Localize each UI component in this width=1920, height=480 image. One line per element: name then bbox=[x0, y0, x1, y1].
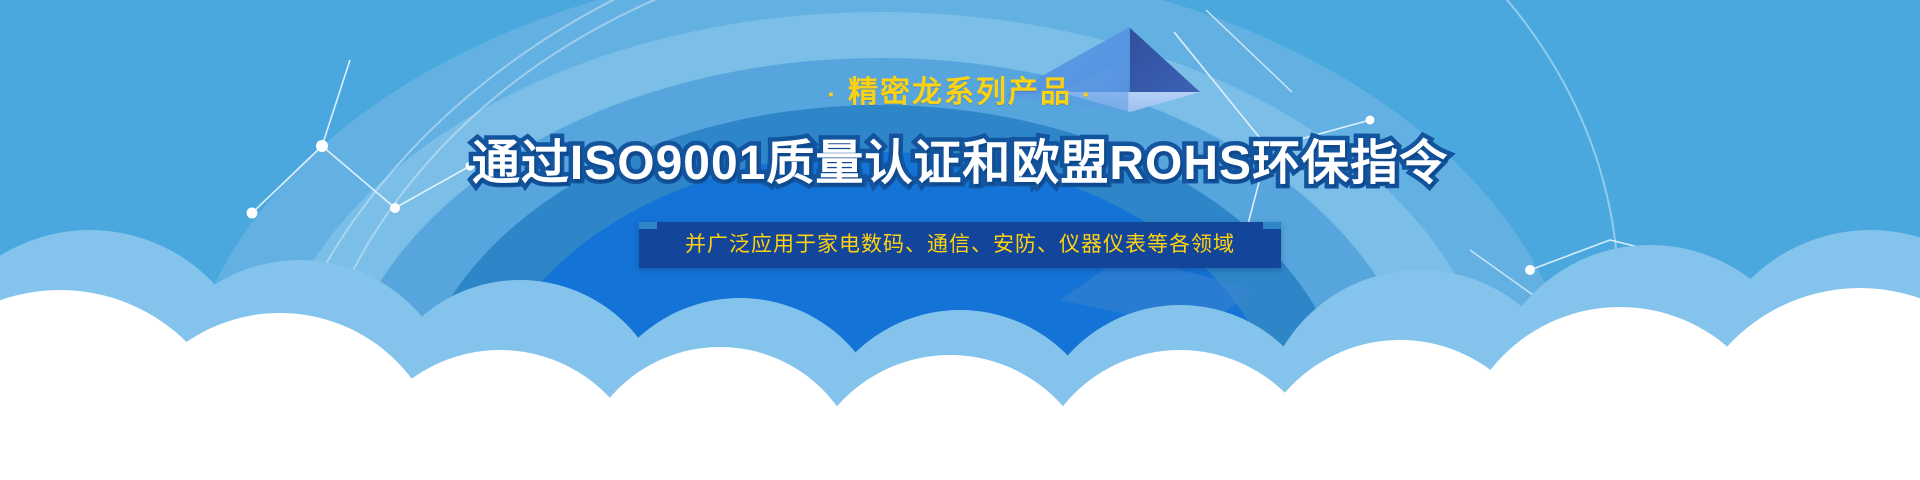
eyebrow-text: 精密龙系列产品 bbox=[848, 76, 1072, 109]
banner-subtitle-bar: 并广泛应用于家电数码、通信、安防、仪器仪表等各领域 bbox=[639, 222, 1281, 268]
eyebrow-right-dot: · bbox=[1072, 79, 1103, 109]
banner-subtitle-text: 并广泛应用于家电数码、通信、安防、仪器仪表等各领域 bbox=[685, 234, 1235, 255]
banner-content: ·精密龙系列产品· 通过ISO9001质量认证和欧盟ROHS环保指令 并广泛应用… bbox=[0, 0, 1920, 480]
banner-eyebrow: ·精密龙系列产品· bbox=[817, 78, 1102, 108]
eyebrow-left-dot: · bbox=[817, 79, 848, 109]
promo-banner: ·精密龙系列产品· 通过ISO9001质量认证和欧盟ROHS环保指令 并广泛应用… bbox=[0, 0, 1920, 480]
banner-headline-wrap: 通过ISO9001质量认证和欧盟ROHS环保指令 bbox=[472, 140, 1448, 188]
banner-headline: 通过ISO9001质量认证和欧盟ROHS环保指令 bbox=[472, 140, 1448, 188]
